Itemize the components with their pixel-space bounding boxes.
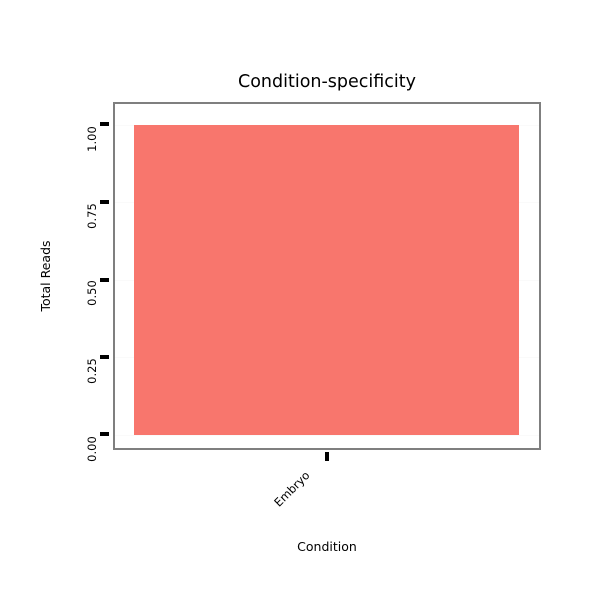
y-tick-label-4: 1.00 bbox=[86, 124, 98, 154]
chart-title-text: Condition-specificity bbox=[238, 72, 416, 92]
x-tick-mark-0 bbox=[325, 452, 329, 461]
y-axis-title: Total Reads bbox=[39, 240, 53, 311]
chart-canvas: Condition-specificity Total Reads 0.00 0… bbox=[0, 0, 600, 600]
x-axis-title-text: Condition bbox=[297, 539, 357, 554]
y-tick-mark-1 bbox=[100, 355, 109, 359]
plot-panel bbox=[113, 102, 541, 450]
plot-panel-inner bbox=[115, 104, 539, 448]
x-axis-title: Condition bbox=[0, 540, 600, 554]
y-tick-mark-0 bbox=[100, 432, 109, 436]
bar-embryo bbox=[134, 125, 519, 435]
y-tick-mark-3 bbox=[100, 200, 109, 204]
y-tick-label-3: 0.75 bbox=[86, 201, 98, 231]
gridline-y-0 bbox=[115, 435, 539, 436]
chart-title: Condition-specificity bbox=[0, 72, 600, 92]
y-tick-label-0: 0.00 bbox=[86, 434, 98, 464]
y-tick-label-2: 0.50 bbox=[86, 278, 98, 308]
y-tick-label-1: 0.25 bbox=[86, 356, 98, 386]
y-tick-mark-4 bbox=[100, 122, 109, 126]
x-tick-label-0: Embryo bbox=[272, 469, 312, 509]
y-tick-mark-2 bbox=[100, 278, 109, 282]
